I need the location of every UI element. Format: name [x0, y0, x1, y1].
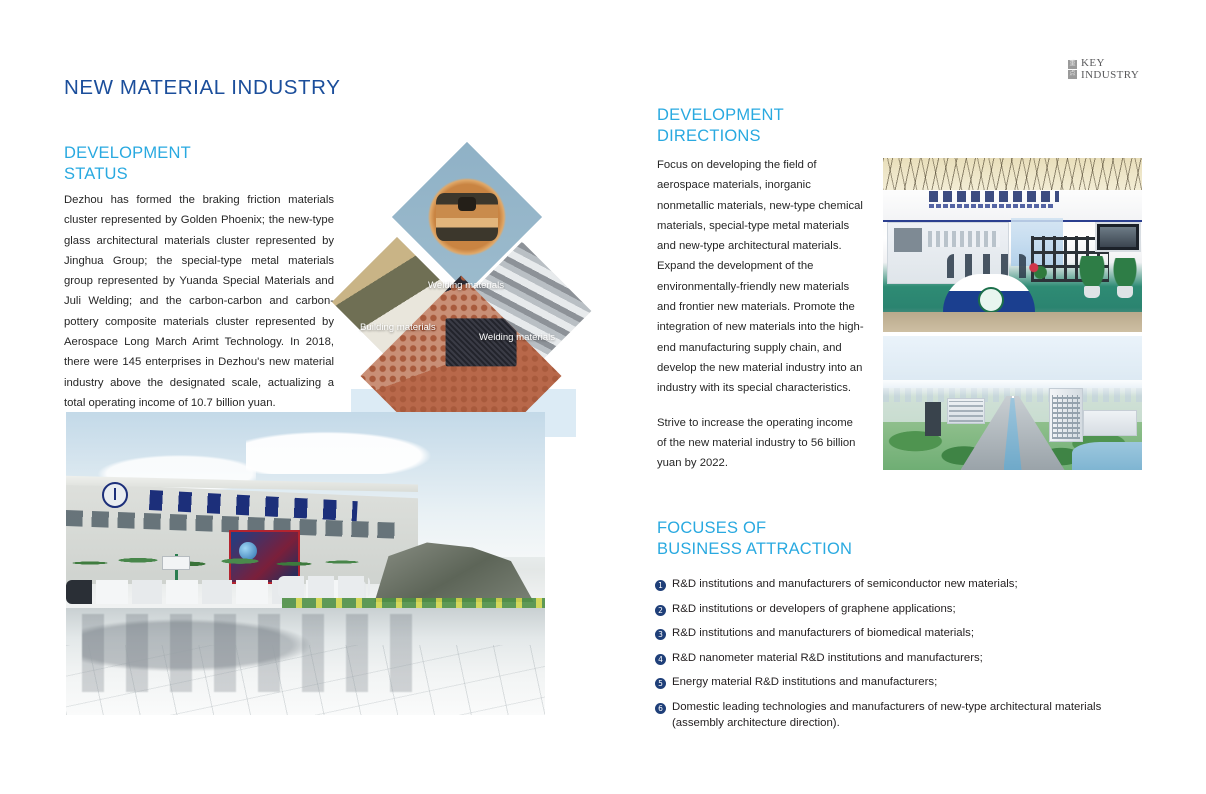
focuses-heading-line2: BUSINESS ATTRACTION [657, 539, 852, 560]
collage-label-welding-top: Welding materials [428, 280, 504, 291]
welding-wire-spool-icon [436, 193, 498, 241]
list-item-text: Domestic leading technologies and manufa… [672, 699, 1125, 731]
parked-cars-row [278, 576, 370, 598]
list-item: 2 R&D institutions or developers of grap… [655, 601, 1125, 617]
list-item: 6 Domestic leading technologies and manu… [655, 699, 1125, 731]
potted-plant [1079, 256, 1105, 290]
hall-floor [883, 312, 1142, 332]
booth-english-name [929, 204, 1054, 208]
list-item-text: R&D institutions and manufacturers of se… [672, 576, 1018, 592]
cloud [246, 428, 446, 474]
bullet-number-icon: 1 [655, 580, 666, 591]
booth-chinese-name [929, 191, 1059, 202]
bullet-number-icon: 4 [655, 654, 666, 665]
bullet-number-icon: 5 [655, 678, 666, 689]
materials-collage: Welding materials Building materials Wel… [351, 162, 576, 437]
page-title: NEW MATERIAL INDUSTRY [64, 76, 340, 100]
key-industry-mark: 重 点 KEY INDUSTRY [1068, 58, 1139, 81]
development-directions-paragraph: Focus on developing the field of aerospa… [657, 155, 864, 399]
casc-logo-icon [102, 482, 128, 508]
list-item: 1 R&D institutions and manufacturers of … [655, 576, 1125, 592]
brochure-page: 重 点 KEY INDUSTRY NEW MATERIAL INDUSTRY D… [0, 0, 1206, 794]
bullet-number-icon: 6 [655, 703, 666, 714]
list-item-text: Energy material R&D institutions and man… [672, 674, 937, 690]
dark-tower [925, 402, 941, 436]
list-item: 5 Energy material R&D institutions and m… [655, 674, 1125, 690]
lake [1072, 442, 1142, 470]
development-directions-heading-line1: DEVELOPMENT [657, 105, 784, 126]
badge-glyph-top: 重 [1068, 60, 1077, 69]
development-directions-paragraph: Strive to increase the operating income … [657, 413, 864, 474]
plant-pot [1117, 286, 1133, 298]
development-status-body: Dezhou has formed the braking friction m… [64, 190, 334, 413]
list-item-text: R&D institutions and manufacturers of bi… [672, 625, 974, 641]
key-industry-badge-icon: 重 点 [1068, 60, 1077, 79]
collage-label-welding-right: Welding materials [479, 332, 555, 343]
development-directions-heading: DEVELOPMENT DIRECTIONS [657, 105, 784, 146]
focuses-heading-line1: FOCUSES OF [657, 518, 852, 539]
wall-monitor [1095, 222, 1141, 252]
development-directions-heading-line2: DIRECTIONS [657, 126, 784, 147]
bullet-number-icon: 2 [655, 605, 666, 616]
development-directions-body: Focus on developing the field of aerospa… [657, 155, 864, 473]
photo-industrial-park-rendering [883, 336, 1142, 470]
development-status-heading-line2: STATUS [64, 164, 191, 185]
low-rise-block [1083, 410, 1137, 436]
list-item: 4 R&D nanometer material R&D institution… [655, 650, 1125, 666]
plant-pot [1084, 286, 1100, 298]
focuses-list: 1 R&D institutions and manufacturers of … [655, 576, 1125, 739]
focuses-heading: FOCUSES OF BUSINESS ATTRACTION [657, 518, 852, 559]
high-rise-building [1049, 388, 1083, 442]
key-industry-label: KEY INDUSTRY [1081, 58, 1139, 81]
development-status-heading: DEVELOPMENT STATUS [64, 143, 191, 184]
photo-exhibition-booth [883, 158, 1142, 332]
office-building [947, 398, 985, 424]
development-status-heading-line1: DEVELOPMENT [64, 143, 191, 164]
plaza-tiles [66, 645, 545, 715]
list-item-text: R&D nanometer material R&D institutions … [672, 650, 983, 666]
key-industry-line1: KEY [1081, 57, 1105, 69]
photo-carbon-material-industrial-base [66, 412, 545, 715]
key-industry-line2: INDUSTRY [1081, 69, 1139, 81]
list-item: 3 R&D institutions and manufacturers of … [655, 625, 1125, 641]
badge-glyph-bottom: 点 [1068, 70, 1077, 79]
horizon-haze [883, 380, 1142, 396]
list-item-text: R&D institutions or developers of graphe… [672, 601, 956, 617]
collage-label-building: Building materials [360, 322, 436, 333]
flower-arrangement [1025, 258, 1047, 282]
exhibition-hall-roof [883, 158, 1142, 192]
bullet-number-icon: 3 [655, 629, 666, 640]
